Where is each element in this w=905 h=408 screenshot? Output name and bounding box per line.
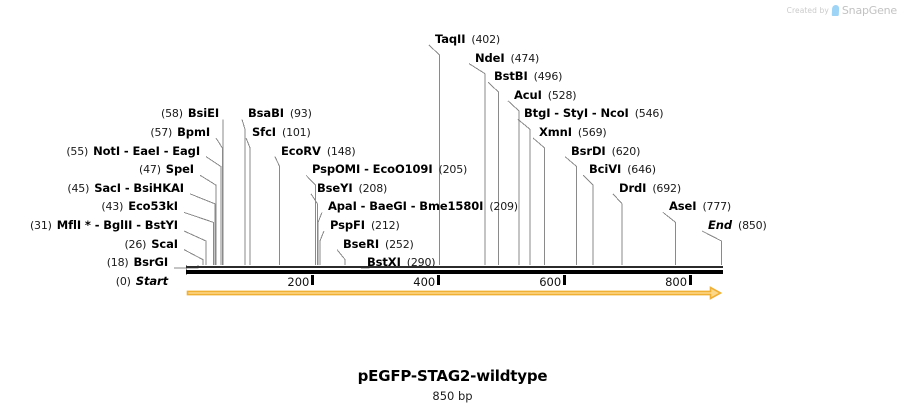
site-position: (47) xyxy=(139,163,161,176)
site-label-AcuI[interactable]: AcuI(528) xyxy=(514,89,576,102)
site-position: (569) xyxy=(578,126,607,139)
site-position: (93) xyxy=(290,107,312,120)
site-enzyme-names: End xyxy=(708,218,732,232)
site-position: (43) xyxy=(101,200,123,213)
site-position: (646) xyxy=(627,163,656,176)
site-position: (148) xyxy=(327,145,356,158)
site-position: (496) xyxy=(534,70,563,83)
backbone-thin-line xyxy=(186,266,723,268)
site-label-PspFI[interactable]: PspFI(212) xyxy=(330,219,400,232)
orf-arrow-shape[interactable] xyxy=(188,288,721,299)
site-enzyme-names: BseRI xyxy=(343,237,379,251)
site-enzyme-names: ApaI - BaeGI - Bme1580I xyxy=(328,199,483,213)
site-label-BsaBI[interactable]: BsaBI(93) xyxy=(248,107,312,120)
site-enzyme-names: BsiEI xyxy=(188,106,219,120)
site-label-BciVI[interactable]: BciVI(646) xyxy=(589,163,656,176)
site-enzyme-names: SacI - BsiHKAI xyxy=(94,181,184,195)
site-enzyme-names: MflI * - BglII - BstYI xyxy=(57,218,178,232)
site-position: (55) xyxy=(66,145,88,158)
site-position: (252) xyxy=(385,238,414,251)
site-label-NdeI[interactable]: NdeI(474) xyxy=(475,52,539,65)
site-position: (474) xyxy=(511,52,540,65)
site-label-ApaI[interactable]: ApaI - BaeGI - Bme1580I(209) xyxy=(328,200,518,213)
site-label-DrdI[interactable]: DrdI(692) xyxy=(619,182,681,195)
site-label-BpmI[interactable]: (57)BpmI xyxy=(150,126,210,139)
site-position: (528) xyxy=(548,89,577,102)
site-enzyme-names: BsrGI xyxy=(134,255,169,269)
feature-arrow[interactable] xyxy=(175,283,735,303)
site-position: (57) xyxy=(150,126,172,139)
site-position: (208) xyxy=(359,182,388,195)
plasmid-size: 850 bp xyxy=(0,389,905,403)
title-block: pEGFP-STAG2-wildtype 850 bp xyxy=(0,367,905,403)
site-position: (692) xyxy=(652,182,681,195)
site-position: (0) xyxy=(116,275,131,288)
site-position: (45) xyxy=(67,182,89,195)
site-position: (546) xyxy=(635,107,664,120)
site-enzyme-names: AcuI xyxy=(514,88,542,102)
site-enzyme-names: AseI xyxy=(669,199,696,213)
site-enzyme-names: PspFI xyxy=(330,218,365,232)
site-enzyme-names: BciVI xyxy=(589,162,621,176)
site-label-NotI[interactable]: (55)NotI - EaeI - EagI xyxy=(66,145,200,158)
site-label-EcoRV[interactable]: EcoRV(148) xyxy=(281,145,355,158)
site-position: (58) xyxy=(161,107,183,120)
site-label-BsiEI[interactable]: (58)BsiEI xyxy=(161,107,219,120)
site-enzyme-names: XmnI xyxy=(539,125,572,139)
site-label-Eco53kI[interactable]: (43)Eco53kI xyxy=(101,200,178,213)
site-enzyme-names: Start xyxy=(136,274,168,288)
site-label-MflI[interactable]: (31)MflI * - BglII - BstYI xyxy=(30,219,178,232)
site-position: (18) xyxy=(107,256,129,269)
snapgene-linear-map: Created by SnapGene (0)Start(18)BsrGI(26… xyxy=(0,0,905,408)
plasmid-name: pEGFP-STAG2-wildtype xyxy=(0,367,905,385)
site-label-Start[interactable]: (0)Start xyxy=(116,275,168,288)
backbone-thick-bar xyxy=(186,270,723,274)
site-enzyme-names: BsaBI xyxy=(248,106,284,120)
site-enzyme-names: BpmI xyxy=(177,125,210,139)
site-label-SpeI[interactable]: (47)SpeI xyxy=(139,163,194,176)
site-position: (26) xyxy=(124,238,146,251)
site-enzyme-names: BtgI - StyI - NcoI xyxy=(524,106,629,120)
site-label-AseI[interactable]: AseI(777) xyxy=(669,200,731,213)
site-label-SfcI[interactable]: SfcI(101) xyxy=(252,126,311,139)
site-position: (620) xyxy=(612,145,641,158)
site-label-BseYI[interactable]: BseYI(208) xyxy=(317,182,387,195)
site-label-SacI[interactable]: (45)SacI - BsiHKAI xyxy=(67,182,184,195)
site-enzyme-names: BseYI xyxy=(317,181,353,195)
site-label-BtgI[interactable]: BtgI - StyI - NcoI(546) xyxy=(524,107,663,120)
site-enzyme-names: BstBI xyxy=(494,69,528,83)
site-enzyme-names: DrdI xyxy=(619,181,646,195)
site-enzyme-names: SpeI xyxy=(166,162,194,176)
site-enzyme-names: EcoRV xyxy=(281,144,321,158)
site-position: (31) xyxy=(30,219,52,232)
site-label-PspOMI[interactable]: PspOMI - EcoO109I(205) xyxy=(312,163,467,176)
site-enzyme-names: PspOMI - EcoO109I xyxy=(312,162,433,176)
site-label-End[interactable]: End(850) xyxy=(708,219,767,232)
site-position: (777) xyxy=(702,200,731,213)
site-enzyme-names: NdeI xyxy=(475,51,505,65)
dna-backbone: 200400600800 xyxy=(0,0,905,40)
site-enzyme-names: SfcI xyxy=(252,125,276,139)
site-label-XmnI[interactable]: XmnI(569) xyxy=(539,126,607,139)
site-label-BstBI[interactable]: BstBI(496) xyxy=(494,70,562,83)
site-label-BsrDI[interactable]: BsrDI(620) xyxy=(571,145,640,158)
site-enzyme-names: BsrDI xyxy=(571,144,606,158)
restriction-site-labels: (0)Start(18)BsrGI(26)ScaI(31)MflI * - Bg… xyxy=(0,0,905,270)
site-position: (212) xyxy=(371,219,400,232)
site-position: (209) xyxy=(489,200,518,213)
site-enzyme-names: NotI - EaeI - EagI xyxy=(93,144,200,158)
site-enzyme-names: Eco53kI xyxy=(128,199,178,213)
site-position: (850) xyxy=(738,219,767,232)
site-enzyme-names: ScaI xyxy=(151,237,178,251)
site-label-BsrGI[interactable]: (18)BsrGI xyxy=(107,256,168,269)
site-position: (205) xyxy=(439,163,468,176)
site-position: (101) xyxy=(282,126,311,139)
site-label-BseRI[interactable]: BseRI(252) xyxy=(343,238,414,251)
site-label-ScaI[interactable]: (26)ScaI xyxy=(124,238,178,251)
